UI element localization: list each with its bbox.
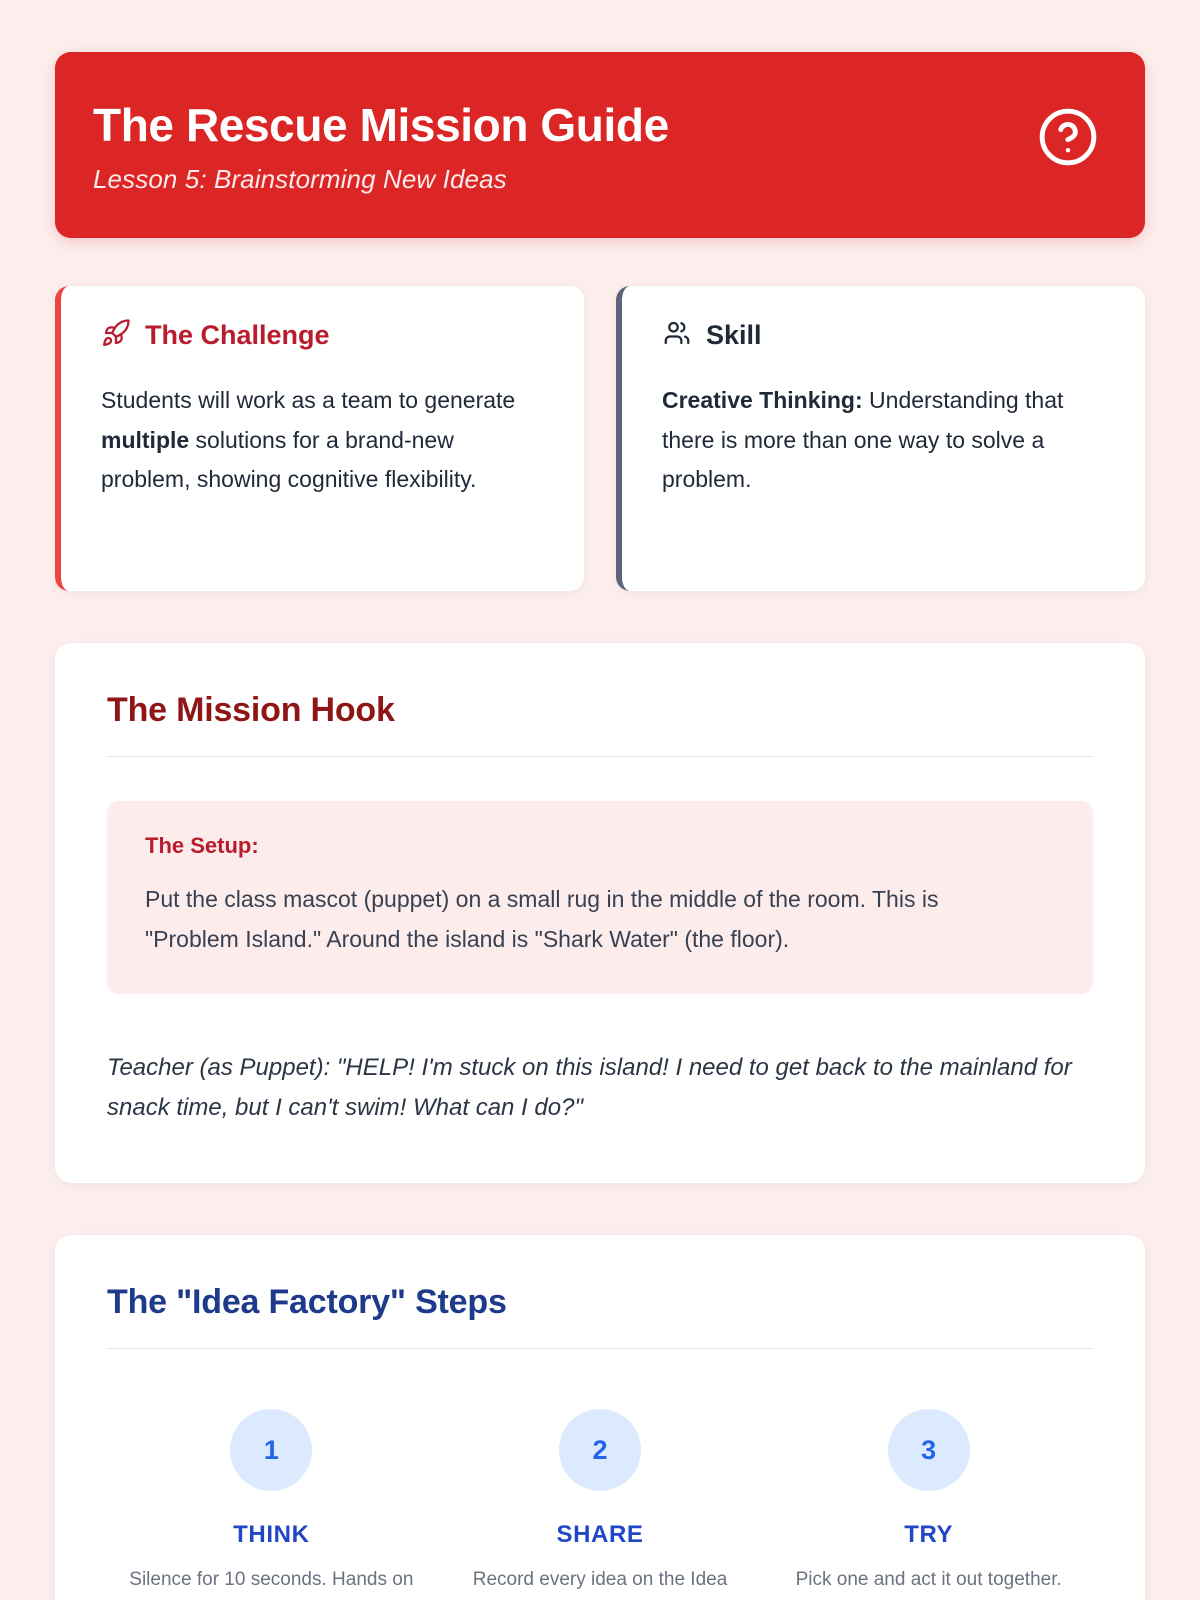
step-description: Pick one and act it out together. xyxy=(782,1565,1075,1594)
mission-hook-title: The Mission Hook xyxy=(107,691,1093,730)
skill-body-emphasis: Creative Thinking: xyxy=(662,387,863,413)
info-card-row: The Challenge Students will work as a te… xyxy=(55,286,1145,591)
mission-hook-section: The Mission Hook The Setup: Put the clas… xyxy=(55,643,1145,1183)
skill-card: Skill Creative Thinking: Understanding t… xyxy=(616,286,1145,591)
challenge-card-body: Students will work as a team to generate… xyxy=(101,381,544,500)
teacher-quote: Teacher (as Puppet): "HELP! I'm stuck on… xyxy=(107,1048,1093,1130)
users-icon xyxy=(662,318,692,353)
challenge-body-emphasis: multiple xyxy=(101,427,189,453)
steps-row: 1 THINK Silence for 10 seconds. Hands on… xyxy=(107,1409,1093,1600)
idea-factory-section: The "Idea Factory" Steps 1 THINK Silence… xyxy=(55,1235,1145,1600)
rocket-icon xyxy=(101,318,131,353)
page-header: The Rescue Mission Guide Lesson 5: Brain… xyxy=(55,52,1145,238)
skill-card-title: Skill xyxy=(706,320,762,351)
step-description: Record every idea on the Idea Map. xyxy=(454,1565,747,1600)
step-item: 1 THINK Silence for 10 seconds. Hands on… xyxy=(107,1409,436,1600)
step-item: 3 TRY Pick one and act it out together. xyxy=(764,1409,1093,1600)
skill-card-body: Creative Thinking: Understanding that th… xyxy=(662,381,1105,500)
idea-factory-title: The "Idea Factory" Steps xyxy=(107,1283,1093,1322)
page-subtitle: Lesson 5: Brainstorming New Ideas xyxy=(93,164,669,195)
setup-callout: The Setup: Put the class mascot (puppet)… xyxy=(107,801,1093,994)
step-number-badge: 2 xyxy=(559,1409,641,1491)
setup-label: The Setup: xyxy=(145,833,1055,859)
step-number-badge: 3 xyxy=(888,1409,970,1491)
lesson-guide-page: The Rescue Mission Guide Lesson 5: Brain… xyxy=(0,0,1200,1600)
challenge-card-header: The Challenge xyxy=(101,318,544,353)
step-number-badge: 1 xyxy=(230,1409,312,1491)
challenge-card-title: The Challenge xyxy=(145,320,330,351)
step-label: THINK xyxy=(125,1521,418,1549)
challenge-body-part-1: Students will work as a team to generate xyxy=(101,387,515,413)
challenge-card: The Challenge Students will work as a te… xyxy=(55,286,584,591)
skill-card-header: Skill xyxy=(662,318,1105,353)
step-item: 2 SHARE Record every idea on the Idea Ma… xyxy=(436,1409,765,1600)
step-description: Silence for 10 seconds. Hands on heads. xyxy=(125,1565,418,1600)
help-circle-icon[interactable] xyxy=(1037,106,1099,173)
header-text-group: The Rescue Mission Guide Lesson 5: Brain… xyxy=(93,90,669,195)
idea-factory-divider xyxy=(107,1348,1093,1349)
step-label: TRY xyxy=(782,1521,1075,1549)
step-label: SHARE xyxy=(454,1521,747,1549)
mission-hook-divider xyxy=(107,756,1093,757)
setup-text: Put the class mascot (puppet) on a small… xyxy=(145,879,1025,960)
page-title: The Rescue Mission Guide xyxy=(93,100,669,152)
